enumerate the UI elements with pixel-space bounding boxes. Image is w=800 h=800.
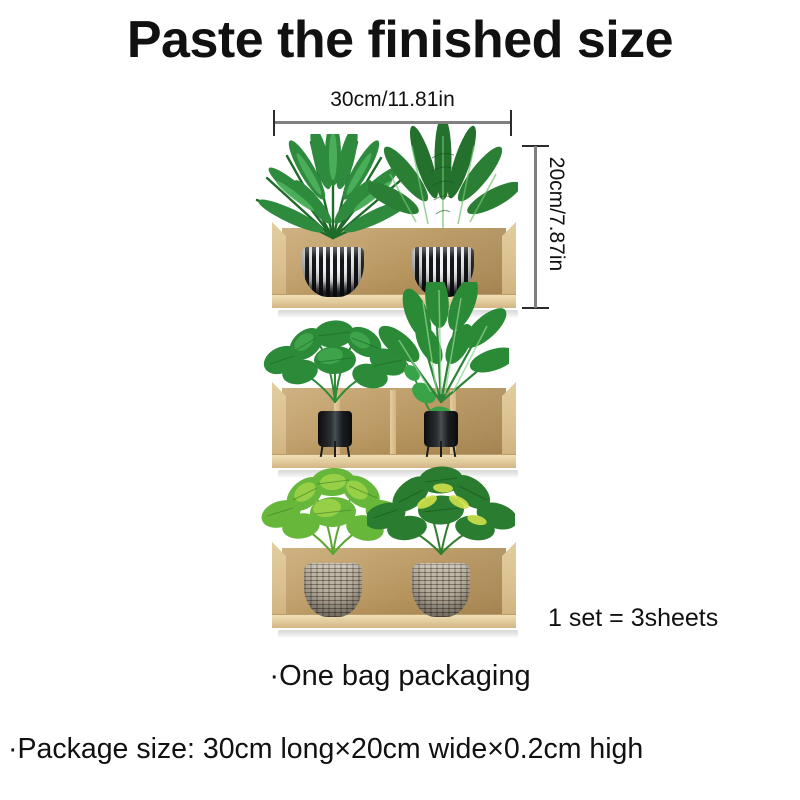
variegated-croton-icon — [367, 458, 515, 563]
shelf-3 — [272, 542, 516, 628]
shelf-3-plant-left — [304, 563, 362, 617]
pot-stand — [425, 441, 457, 457]
bag-packaging-caption: ·One bag packaging — [0, 660, 800, 693]
woven-basket-pot — [304, 563, 362, 617]
woven-basket-pot — [412, 563, 470, 617]
shelf-2-plant-right — [424, 411, 458, 457]
shelf-1-plant-left — [302, 247, 364, 297]
pot-leg — [452, 441, 456, 457]
height-dimension-line — [534, 146, 537, 308]
snake-plant-icon — [368, 124, 518, 247]
page-title: Paste the finished size — [0, 10, 800, 70]
package-size-caption: ·Package size: 30cm long×20cm wide×0.2cm… — [8, 733, 643, 766]
shelf-3-shadow — [278, 630, 518, 638]
height-dimension-label: 20cm/7.87in — [543, 131, 569, 297]
pot-stand — [319, 441, 351, 457]
striped-ceramic-pot — [302, 247, 364, 297]
shelf-2 — [272, 382, 516, 468]
product-size-infographic: Paste the finished size 30cm/11.81in 20c… — [0, 0, 800, 800]
width-dimension-label: 30cm/11.81in — [271, 88, 514, 112]
pot-leg — [426, 441, 430, 457]
shelf-2-plant-left — [318, 411, 352, 457]
black-cylinder-pot — [424, 411, 458, 457]
broadleaf-plant-icon — [373, 282, 509, 411]
black-cylinder-pot — [318, 411, 352, 457]
pot-leg — [440, 441, 442, 457]
height-dimension: 20cm/7.87in — [520, 140, 582, 315]
pot-leg — [346, 441, 350, 457]
pot-leg — [334, 441, 336, 457]
shelf-3-plant-right — [412, 563, 470, 617]
pot-leg — [320, 441, 324, 457]
sheets-caption: 1 set = 3sheets — [548, 604, 718, 633]
